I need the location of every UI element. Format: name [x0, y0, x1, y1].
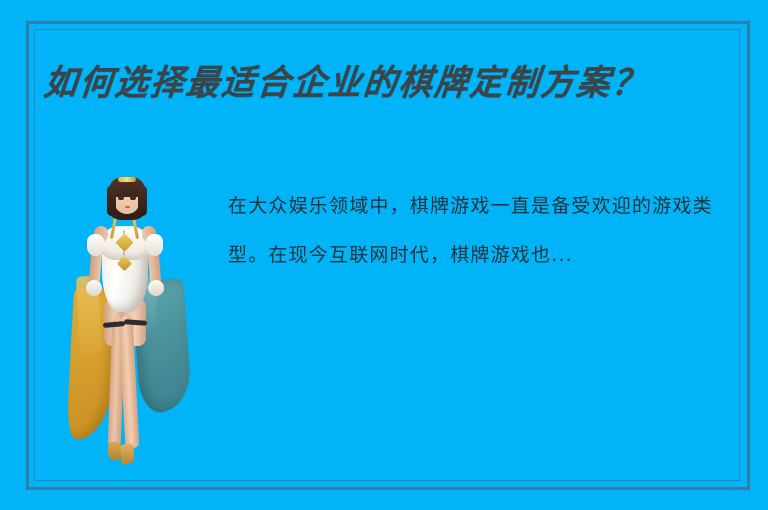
left-cuff [86, 280, 102, 296]
right-shoe [120, 444, 134, 465]
right-cuff [148, 280, 164, 296]
page-title: 如何选择最适合企业的棋牌定制方案？ [41, 54, 727, 111]
left-sleeve [87, 234, 104, 256]
gold-hair-ornament [118, 177, 136, 182]
article-excerpt: 在大众娱乐领域中，棋牌游戏一直是备受欢迎的游戏类型。在现今互联网时代，棋牌游戏也… [228, 182, 724, 280]
left-eye [118, 196, 124, 200]
right-sleeve [146, 234, 163, 256]
hair-side-left [107, 186, 116, 216]
left-shoe [107, 442, 121, 461]
right-eye [130, 196, 136, 200]
mouth [125, 206, 130, 208]
character-illustration [66, 176, 188, 476]
hair-side-right [138, 186, 147, 216]
article-cover-card: 如何选择最适合企业的棋牌定制方案？ [0, 0, 768, 510]
